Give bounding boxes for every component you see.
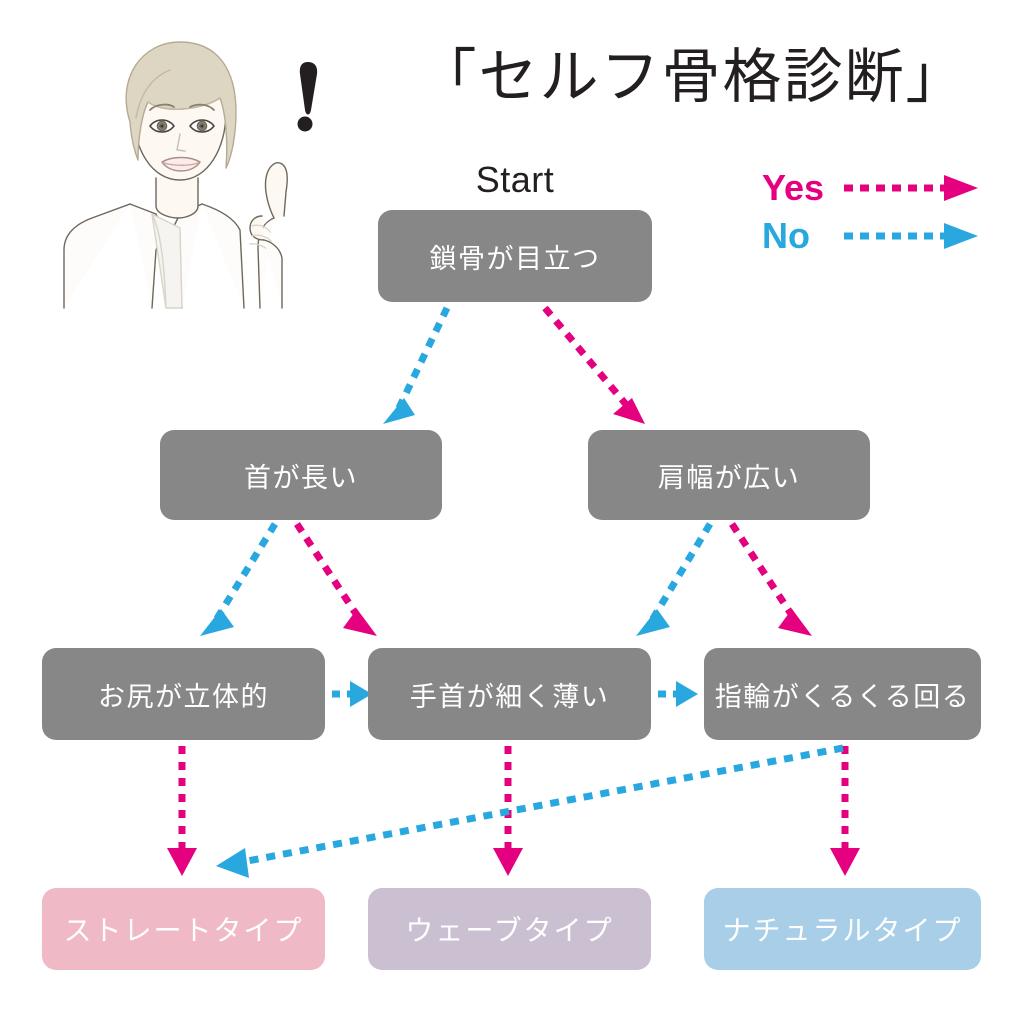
legend-item-no: No xyxy=(762,214,992,258)
edge-wrist-to-ring-no xyxy=(658,681,698,707)
legend-arrow-no-icon xyxy=(840,222,980,250)
edge-start-to-shoulder-yes xyxy=(545,308,645,424)
result-box-straight-type[interactable]: ストレートタイプ xyxy=(42,888,325,970)
legend-arrow-yes-icon xyxy=(840,174,980,202)
question-box-ring-spins[interactable]: 指輪がくるくる回る xyxy=(704,648,981,740)
result-box-wave-type[interactable]: ウェーブタイプ xyxy=(368,888,651,970)
edge-ring-to-straight-no xyxy=(216,748,843,878)
legend: Yes No xyxy=(762,166,992,266)
question-box-long-neck[interactable]: 首が長い xyxy=(160,430,442,520)
edge-wrist-to-wave-yes xyxy=(493,746,523,876)
question-box-collarbone[interactable]: 鎖骨が目立つ xyxy=(378,210,652,302)
legend-item-yes: Yes xyxy=(762,166,992,210)
edge-ring-to-natural-yes xyxy=(830,746,860,876)
edge-hip-to-straight-yes xyxy=(167,746,197,876)
question-box-three-dimensional-hips[interactable]: お尻が立体的 xyxy=(42,648,325,740)
question-box-thin-wrists[interactable]: 手首が細く薄い xyxy=(368,648,651,740)
exclamation-mark xyxy=(298,62,318,132)
edge-shoulder-to-ring-yes xyxy=(732,524,812,636)
edge-hip-to-wrist-no xyxy=(332,681,372,707)
edge-neck-to-hip-no xyxy=(200,524,275,636)
result-box-natural-type[interactable]: ナチュラルタイプ xyxy=(704,888,981,970)
diagram-canvas: 「セルフ骨格診断」 Yes No Start xyxy=(0,0,1024,1024)
woman-pointing-up-illustration xyxy=(52,18,352,318)
legend-label-no: No xyxy=(762,216,840,256)
edge-neck-to-wrist-yes xyxy=(297,524,377,636)
page-title: 「セルフ骨格診断」 xyxy=(412,38,972,116)
edge-shoulder-to-wrist-no xyxy=(636,524,710,636)
legend-label-yes: Yes xyxy=(762,168,840,208)
question-box-broad-shoulders[interactable]: 肩幅が広い xyxy=(588,430,870,520)
edge-start-to-neck-no xyxy=(383,308,447,424)
start-label: Start xyxy=(390,160,640,200)
